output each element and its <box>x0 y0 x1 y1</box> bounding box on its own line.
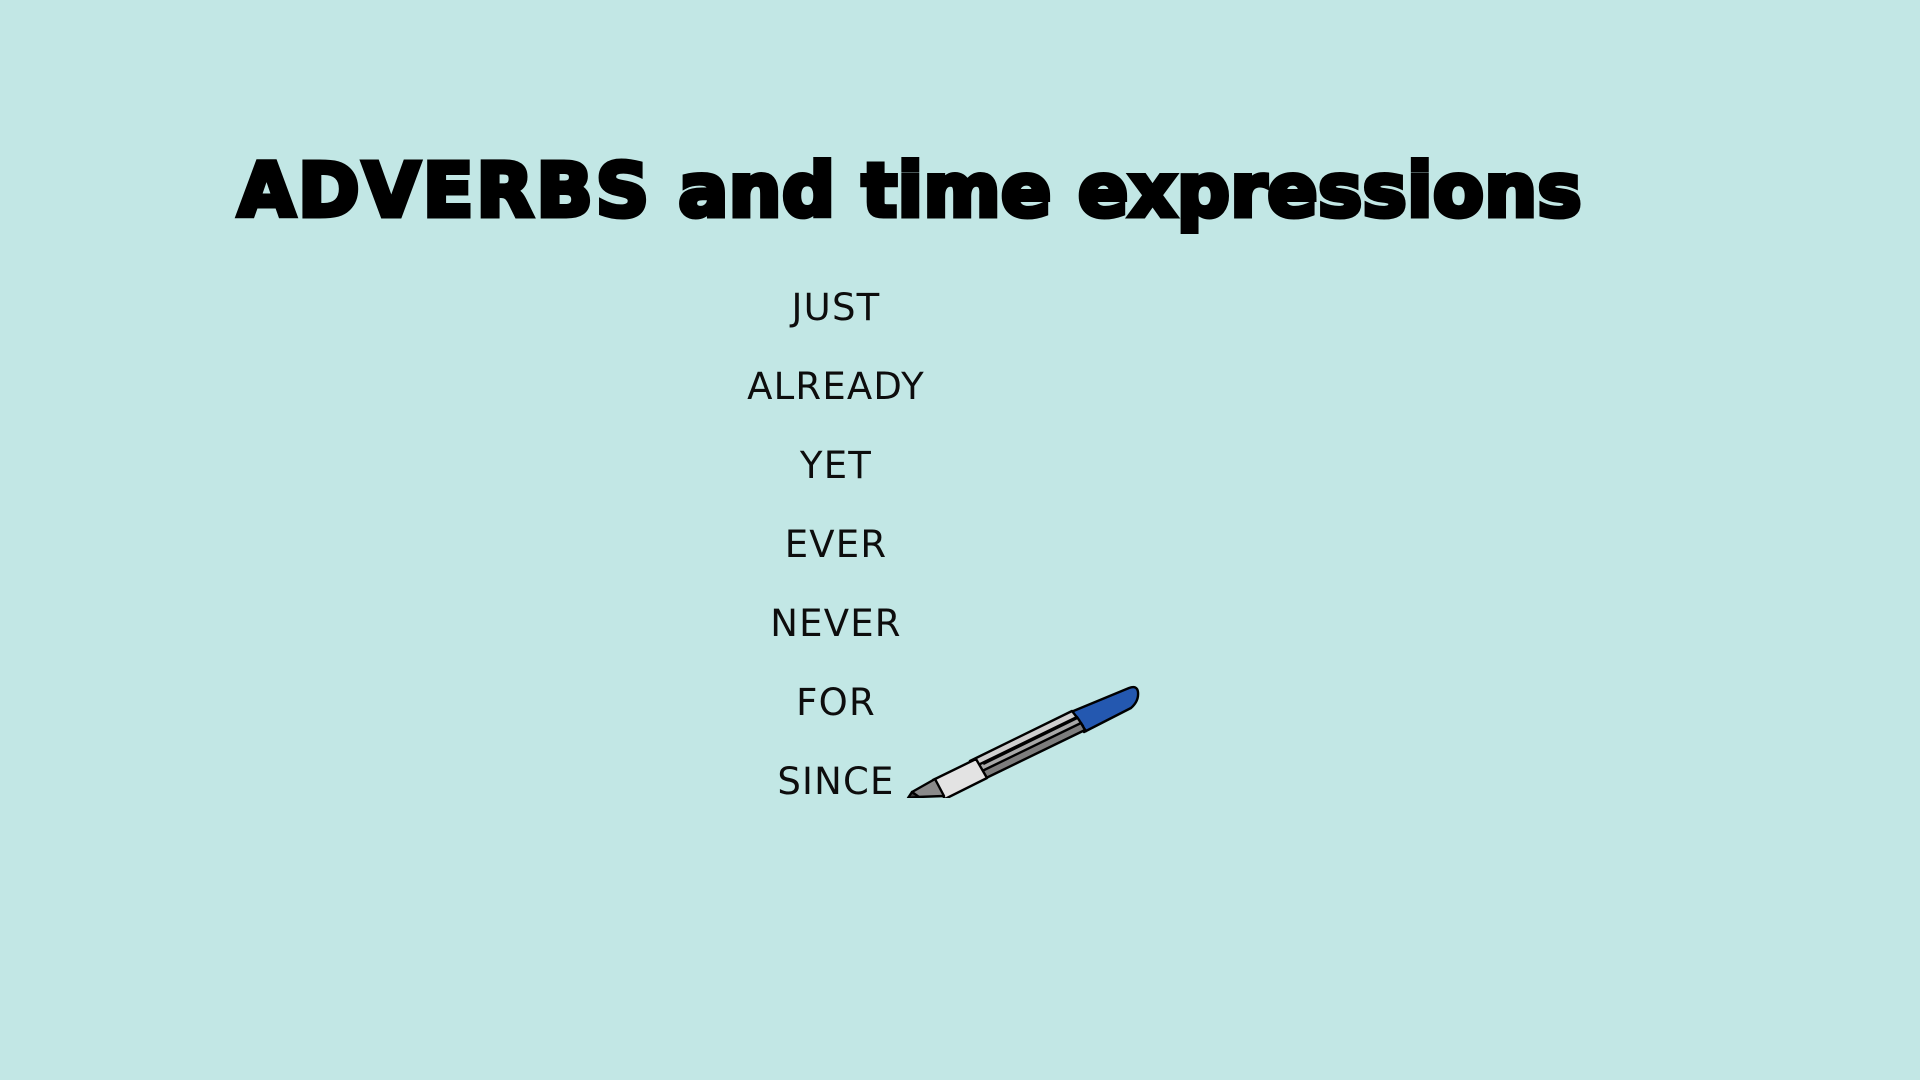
list-item: ALREADY <box>536 347 1136 426</box>
list-item: NEVER <box>536 584 1136 663</box>
list-item: YET <box>536 426 1136 505</box>
page-title: ADVERBS and time expressions <box>238 154 1582 228</box>
title-block: ADVERBS and time expressions <box>0 104 1820 277</box>
title-rest: and time expressions <box>652 148 1582 234</box>
list-item: EVER <box>536 505 1136 584</box>
ballpoint-pen-icon <box>888 668 1148 798</box>
slide-canvas: ADVERBS and time expressions JUST ALREAD… <box>0 0 1920 1080</box>
title-emphasis: ADVERBS <box>238 148 652 234</box>
list-item: JUST <box>536 268 1136 347</box>
